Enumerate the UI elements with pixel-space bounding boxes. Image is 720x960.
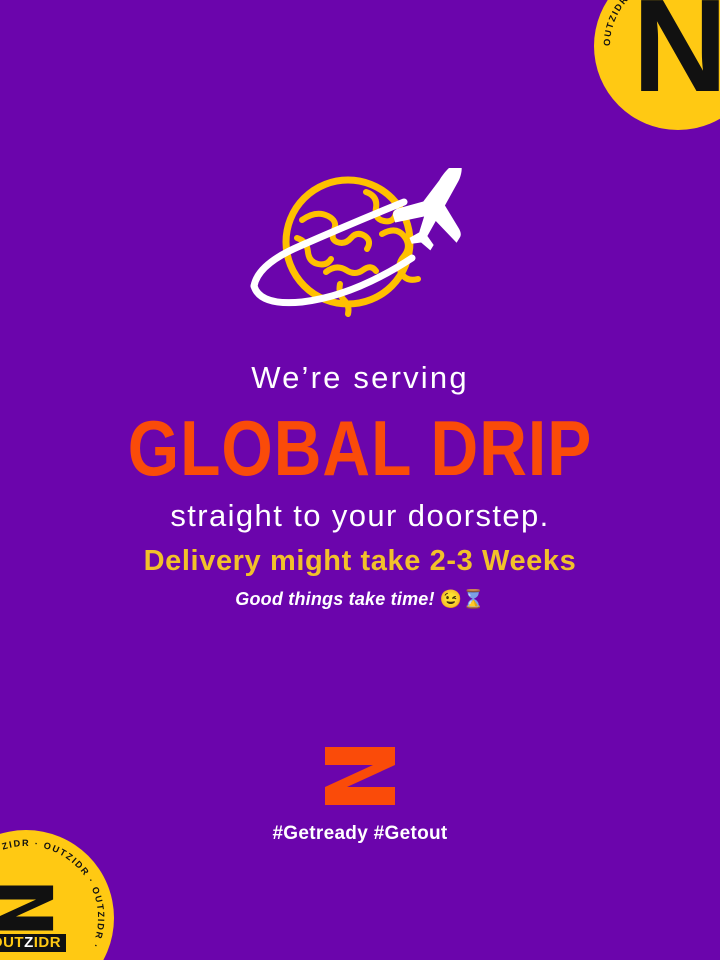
badge-core-bottom-left: OUTZIDR — [0, 865, 79, 960]
eyebrow-text: We’re serving — [28, 360, 692, 397]
outzidr-z-logomark — [321, 745, 399, 807]
hero-illustration — [0, 168, 720, 328]
badge-wordmark-prefix: OUT — [0, 934, 24, 951]
page-title: GLOBAL DRIP — [28, 409, 692, 487]
delivery-notice-block: Delivery might take 2-3 Weeks Good thing… — [0, 545, 720, 611]
outzidr-badge-top-right: OUTZIDR · OUTZIDR · OUTZIDR · OUTZIDR · … — [594, 0, 720, 130]
badge-core-top-right: N — [628, 0, 720, 96]
outzidr-z-logomark-badge — [0, 884, 62, 932]
delivery-subtext-label: Good things take time! — [235, 589, 434, 609]
badge-wordmark: OUTZIDR — [0, 934, 66, 953]
main-copy-block: We’re serving GLOBAL DRIP straight to yo… — [0, 360, 720, 534]
globe-with-airplane-icon — [240, 168, 480, 328]
poster-canvas: We’re serving GLOBAL DRIP straight to yo… — [0, 0, 720, 960]
tagline-text: straight to your doorstep. — [28, 497, 692, 534]
delivery-time-text: Delivery might take 2-3 Weeks — [20, 545, 700, 578]
badge-center-letter: N — [632, 0, 720, 97]
badge-wordmark-suffix: IDR — [34, 934, 61, 951]
hashtags-text: #Getready #Getout — [272, 823, 447, 845]
wink-hourglass-emoji: 😉⌛ — [440, 589, 485, 609]
delivery-subtext: Good things take time! 😉⌛ — [20, 589, 700, 611]
badge-wordmark-z: Z — [24, 934, 34, 951]
outzidr-badge-bottom-left: OUTZIDR · OUTZIDR · OUTZIDR · OUTZIDR · … — [0, 830, 114, 960]
